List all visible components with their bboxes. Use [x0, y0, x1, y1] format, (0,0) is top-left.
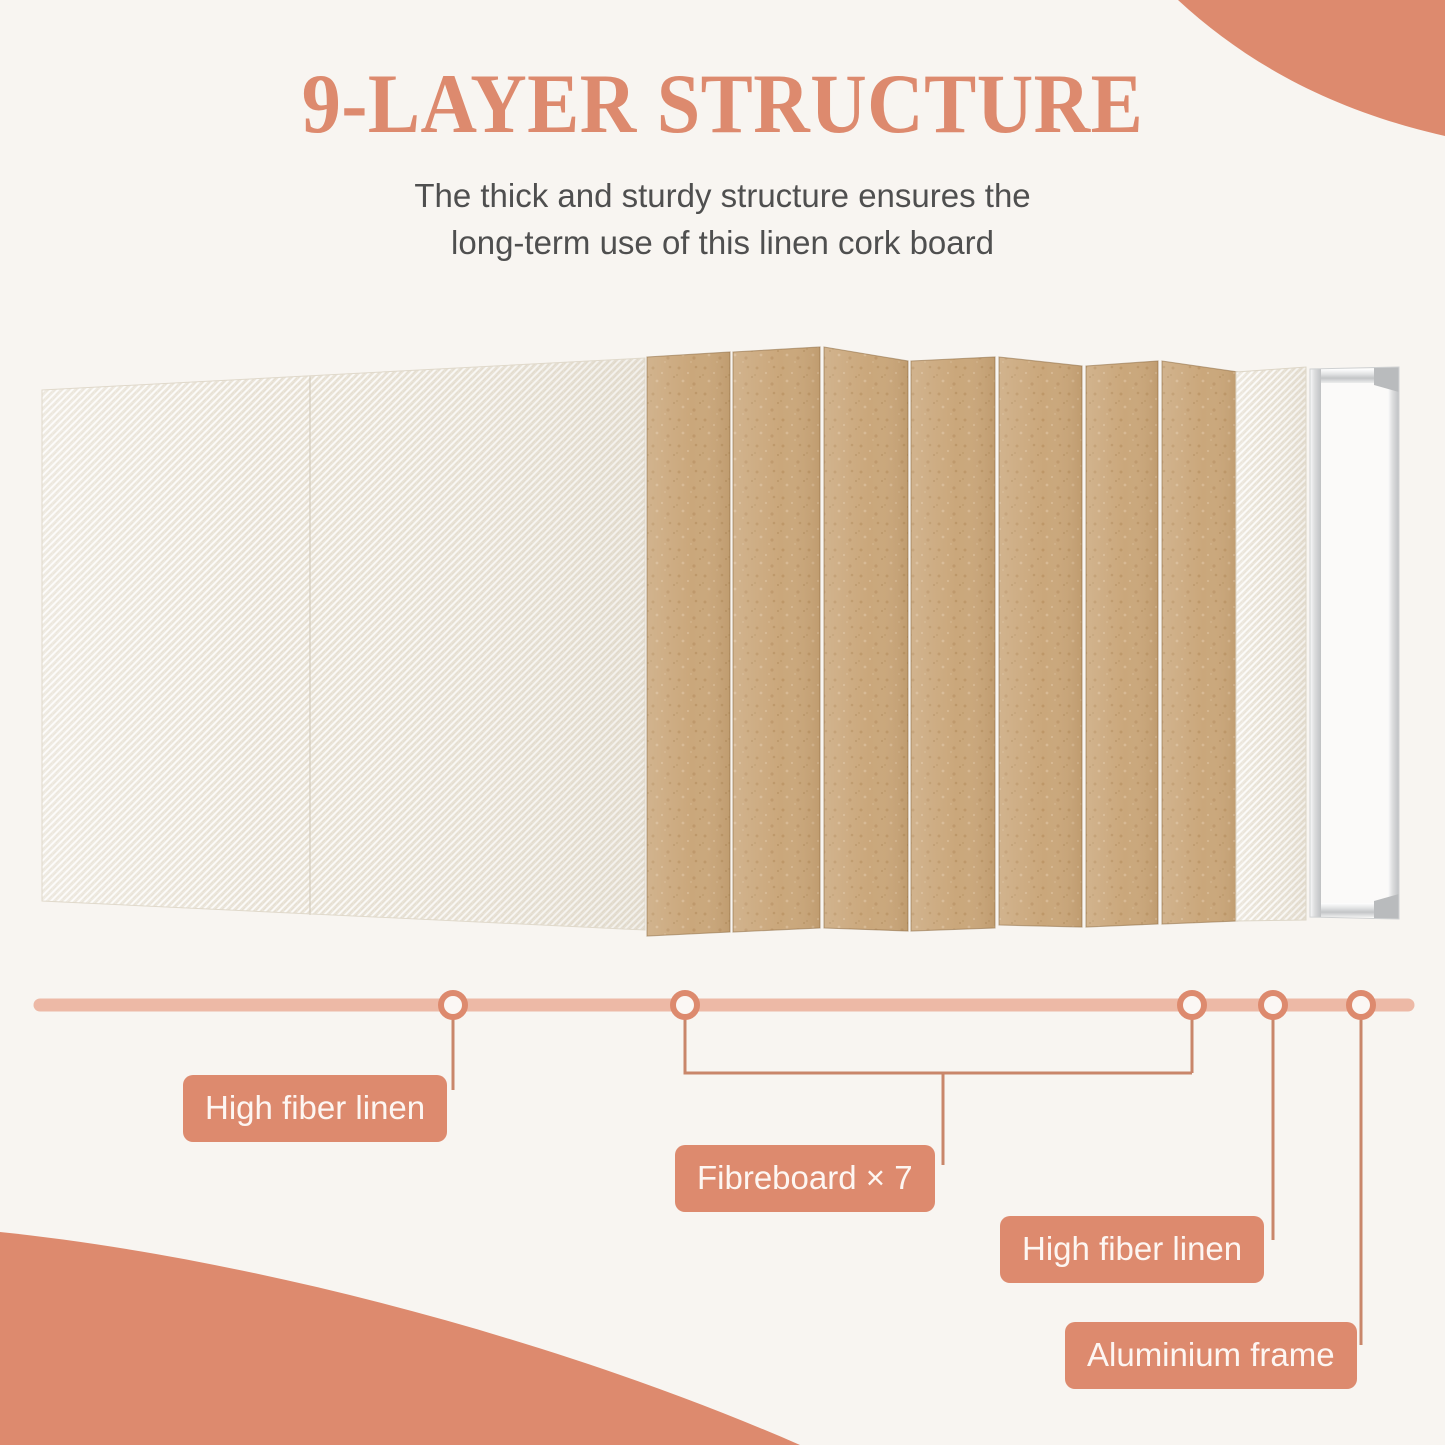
page-subtitle: The thick and sturdy structure ensures t… [0, 147, 1445, 267]
fibreboard-panel-5 [999, 357, 1082, 927]
layer-fibreboard-stack [647, 347, 1238, 936]
infographic-canvas: 9-LAYER STRUCTURE The thick and sturdy s… [0, 0, 1445, 1445]
page-title: 9-LAYER STRUCTURE [58, 62, 1387, 147]
fibreboard-panel-4 [911, 357, 995, 931]
layer-linen-back [1236, 367, 1306, 921]
callout-high-fiber-linen-front[interactable]: High fiber linen [183, 1075, 447, 1142]
fibreboard-panel-1 [647, 352, 730, 936]
callout-fibreboard-stack[interactable]: Fibreboard × 7 [675, 1145, 935, 1212]
heading-block: 9-LAYER STRUCTURE The thick and sturdy s… [0, 62, 1445, 267]
subtitle-line-1: The thick and sturdy structure ensures t… [0, 173, 1445, 220]
fibreboard-panel-7 [1162, 361, 1238, 924]
subtitle-line-2: long-term use of this linen cork board [0, 220, 1445, 267]
callout-high-fiber-linen-back[interactable]: High fiber linen [1000, 1216, 1264, 1283]
layer-aluminium-frame [1310, 367, 1399, 919]
fibreboard-panel-2 [733, 347, 820, 932]
callout-aluminium-frame[interactable]: Aluminium frame [1065, 1322, 1357, 1389]
fibreboard-panel-3 [824, 347, 908, 931]
layer-linen-front [42, 358, 645, 930]
fibreboard-panel-6 [1086, 361, 1158, 927]
